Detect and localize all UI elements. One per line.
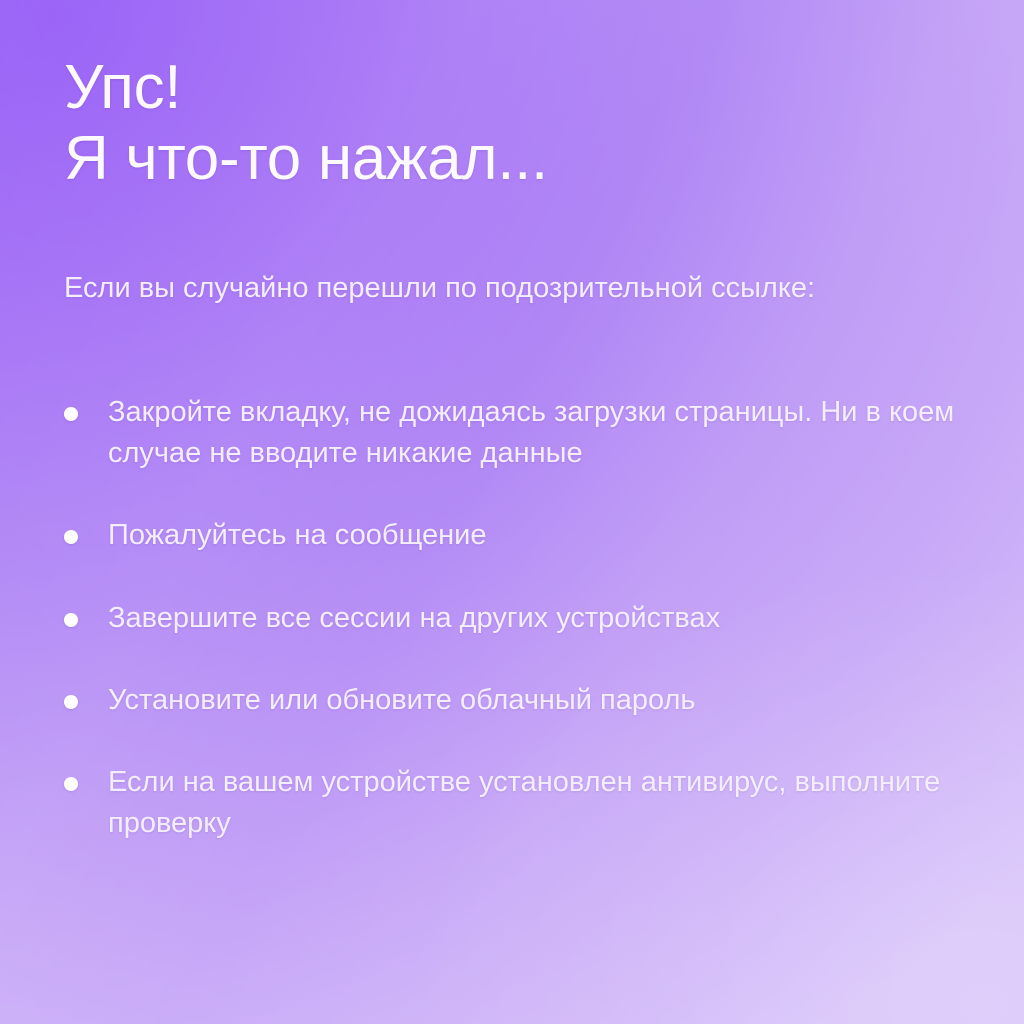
headline-line-1: Упс!: [64, 52, 548, 123]
bullet-dot-icon: [64, 777, 78, 791]
list-item-label: Закройте вкладку, не дожидаясь загрузки …: [108, 392, 964, 474]
bullet-dot-icon: [64, 695, 78, 709]
list-item-label: Установите или обновите облачный пароль: [108, 680, 964, 721]
list-item-label: Завершите все сессии на других устройств…: [108, 598, 964, 639]
bullet-dot-icon: [64, 530, 78, 544]
list-item-label: Пожалуйтесь на сообщение: [108, 515, 964, 556]
page-title: Упс! Я что-то нажал...: [64, 52, 548, 195]
list-item: Пожалуйтесь на сообщение: [64, 515, 964, 556]
list-item: Завершите все сессии на других устройств…: [64, 598, 964, 639]
slide-canvas: Упс! Я что-то нажал... Если вы случайно …: [0, 0, 1024, 1024]
advice-list: Закройте вкладку, не дожидаясь загрузки …: [64, 392, 964, 844]
list-item-label: Если на вашем устройстве установлен анти…: [108, 762, 964, 844]
list-item: Закройте вкладку, не дожидаясь загрузки …: [64, 392, 964, 474]
bullet-dot-icon: [64, 407, 78, 421]
subtitle-text: Если вы случайно перешли по подозрительн…: [64, 268, 894, 309]
bullet-dot-icon: [64, 613, 78, 627]
list-item: Если на вашем устройстве установлен анти…: [64, 762, 964, 844]
list-item: Установите или обновите облачный пароль: [64, 680, 964, 721]
headline-line-2: Я что-то нажал...: [64, 123, 548, 194]
